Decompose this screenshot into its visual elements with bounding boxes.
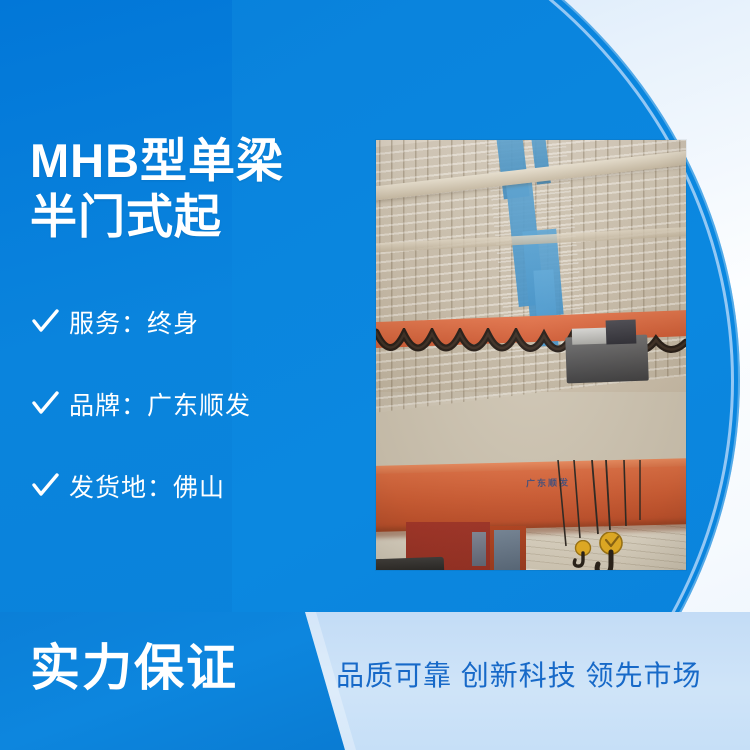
product-photo: 广东顺发 <box>376 140 686 570</box>
footer-headline: 实力保证 <box>30 639 238 697</box>
feature-label-service: 服务：终身 <box>69 304 199 340</box>
list-item: 品牌：广东顺发 <box>30 382 360 426</box>
footer-tagline: 品质可靠 创新科技 领先市场 <box>336 658 702 694</box>
feature-list: 服务：终身 品牌：广东顺发 发货地：佛山 <box>30 300 360 546</box>
feature-label-brand: 品牌：广东顺发 <box>69 386 251 422</box>
title-line-2: 半门式起 <box>30 189 360 245</box>
product-photo-image: 广东顺发 <box>376 140 686 570</box>
page-title: MHB型单梁 半门式起 <box>30 133 360 245</box>
title-line-1: MHB型单梁 <box>30 133 360 189</box>
photo-vignette <box>376 140 686 570</box>
promo-banner: MHB型单梁 半门式起 服务：终身 品牌：广东顺发 <box>0 0 750 750</box>
check-icon <box>30 389 60 419</box>
check-icon <box>30 307 60 337</box>
list-item: 发货地：佛山 <box>30 464 360 508</box>
feature-label-origin: 发货地：佛山 <box>69 468 225 504</box>
list-item: 服务：终身 <box>30 300 360 344</box>
check-icon <box>30 471 60 501</box>
footer-bar: 实力保证 品质可靠 创新科技 领先市场 <box>0 612 750 750</box>
